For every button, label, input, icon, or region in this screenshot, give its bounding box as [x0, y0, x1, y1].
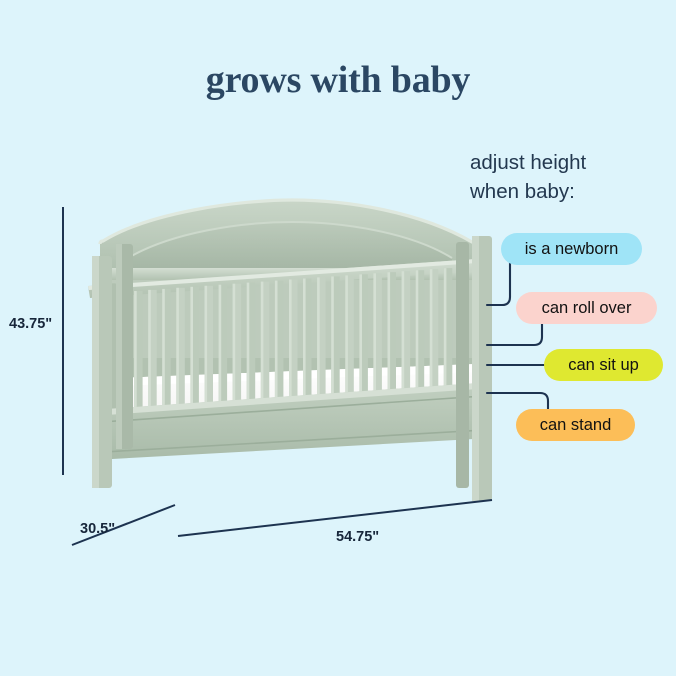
page-title: grows with baby: [0, 58, 676, 102]
infographic-canvas: grows with baby adjust height when baby:: [0, 0, 676, 676]
crib-headboard: [100, 200, 475, 274]
milestone-label: is a newborn: [525, 240, 619, 259]
milestone-label: can roll over: [542, 299, 632, 318]
milestone-pill-situp[interactable]: can sit up: [544, 349, 663, 381]
dimension-label-width: 54.75": [336, 529, 379, 545]
milestone-pill-rollover[interactable]: can roll over: [516, 292, 657, 324]
milestone-pill-stand[interactable]: can stand: [516, 409, 635, 441]
prompt-line-1: adjust height: [470, 151, 586, 174]
milestone-label: can stand: [540, 416, 612, 435]
milestone-label: can sit up: [568, 356, 639, 375]
dimension-label-height: 43.75": [9, 316, 52, 332]
milestone-pill-newborn[interactable]: is a newborn: [501, 233, 642, 265]
dimension-label-depth: 30.5": [80, 521, 115, 537]
crib-illustration: [80, 196, 505, 506]
